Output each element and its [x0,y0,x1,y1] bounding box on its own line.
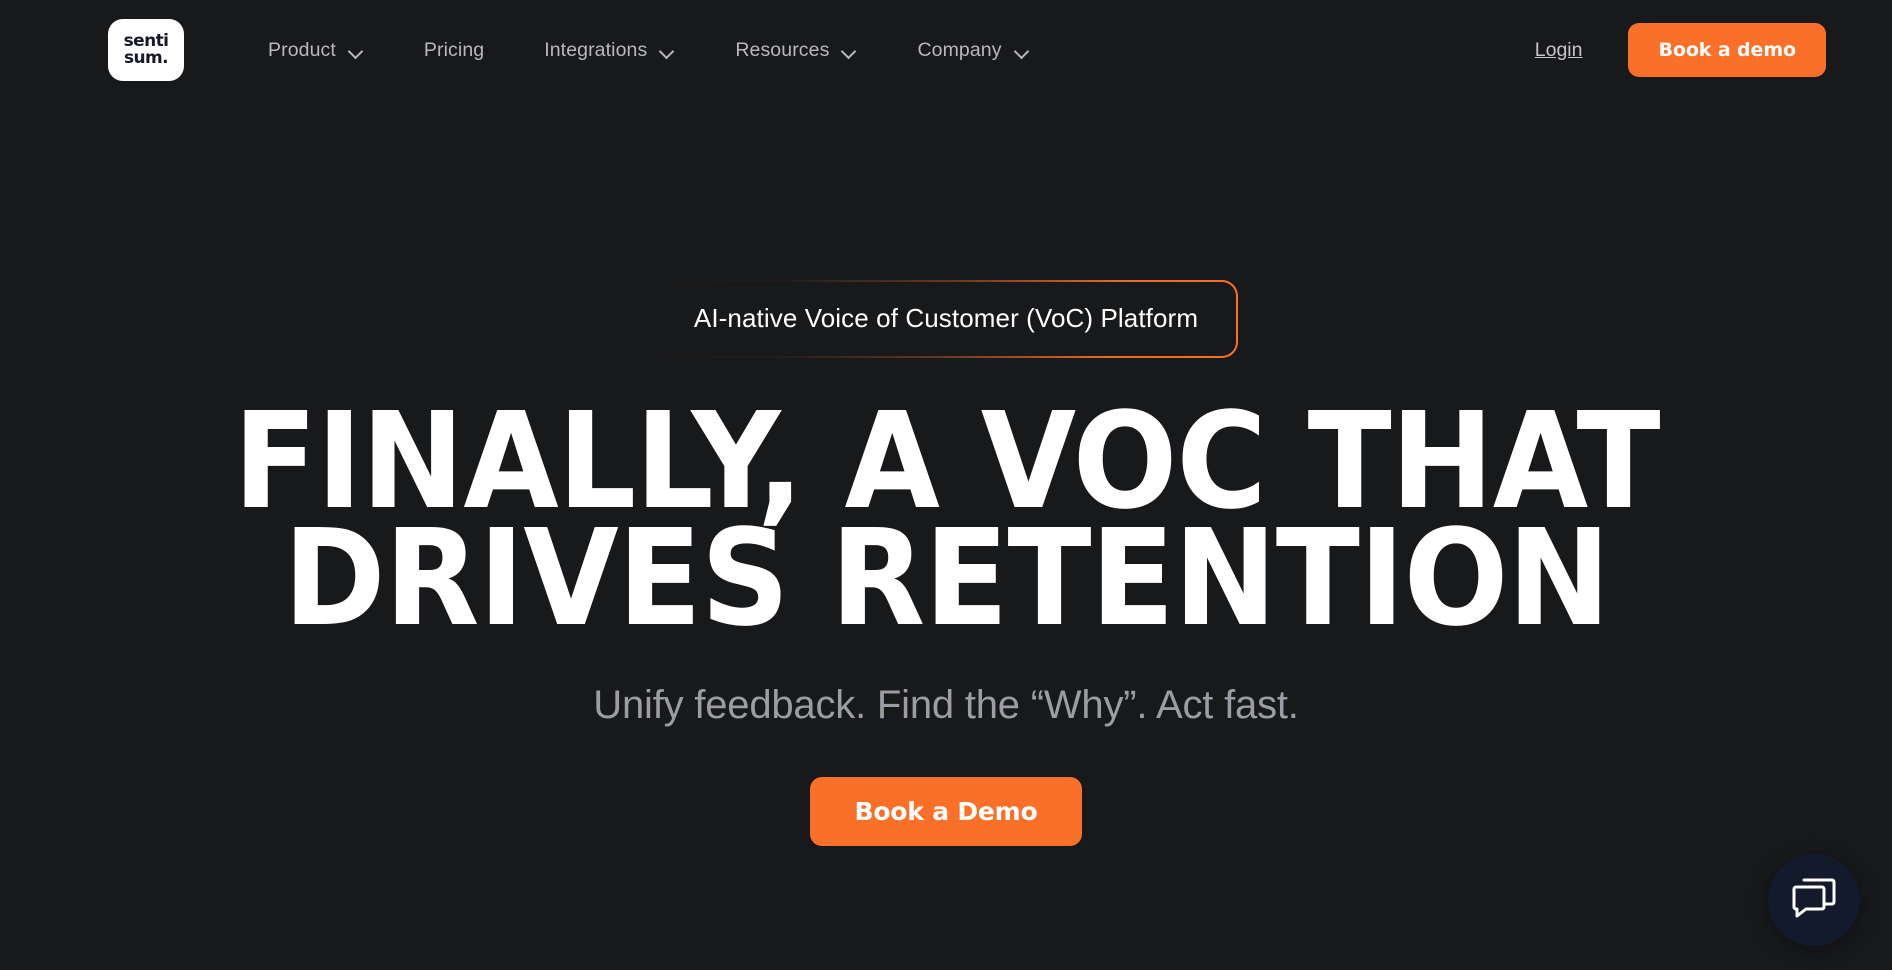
top-navigation-bar: senti sum. Product Pricing Integrations … [0,0,1892,100]
hero-badge-label: AI-native Voice of Customer (VoC) Platfo… [656,282,1236,356]
nav-actions: Login Book a demo [1503,23,1826,77]
nav-item-label: Company [917,39,1001,62]
chevron-down-icon [1015,46,1030,55]
hero-headline-line-2: DRIVES RETENTION [233,521,1659,638]
chevron-down-icon [349,46,364,55]
login-link[interactable]: Login [1503,29,1615,72]
nav-item-label: Integrations [544,39,647,62]
nav-item-integrations[interactable]: Integrations [514,29,705,72]
primary-nav-links: Product Pricing Integrations Resources C… [238,29,1060,72]
sentisum-logo[interactable]: senti sum. [108,19,184,81]
hero-headline: FINALLY, A VoC THAT DRIVES RETENTION [233,404,1659,638]
chat-widget-button[interactable] [1768,854,1860,946]
nav-item-pricing[interactable]: Pricing [394,29,514,72]
nav-item-product[interactable]: Product [238,29,394,72]
nav-item-label: Pricing [424,39,484,62]
nav-item-company[interactable]: Company [887,29,1059,72]
logo-line-2: sum. [124,50,168,67]
chevron-down-icon [842,46,857,55]
chevron-down-icon [660,46,675,55]
nav-item-resources[interactable]: Resources [705,29,887,72]
book-a-demo-cta-button[interactable]: Book a Demo [810,777,1081,846]
hero-subtitle: Unify feedback. Find the “Why”. Act fast… [593,685,1298,725]
chat-bubbles-icon [1792,878,1836,923]
nav-item-label: Resources [735,39,829,62]
hero-section: AI-native Voice of Customer (VoC) Platfo… [0,100,1892,970]
hero-badge: AI-native Voice of Customer (VoC) Platfo… [654,280,1238,358]
nav-item-label: Product [268,39,336,62]
book-a-demo-nav-button[interactable]: Book a demo [1628,23,1826,77]
